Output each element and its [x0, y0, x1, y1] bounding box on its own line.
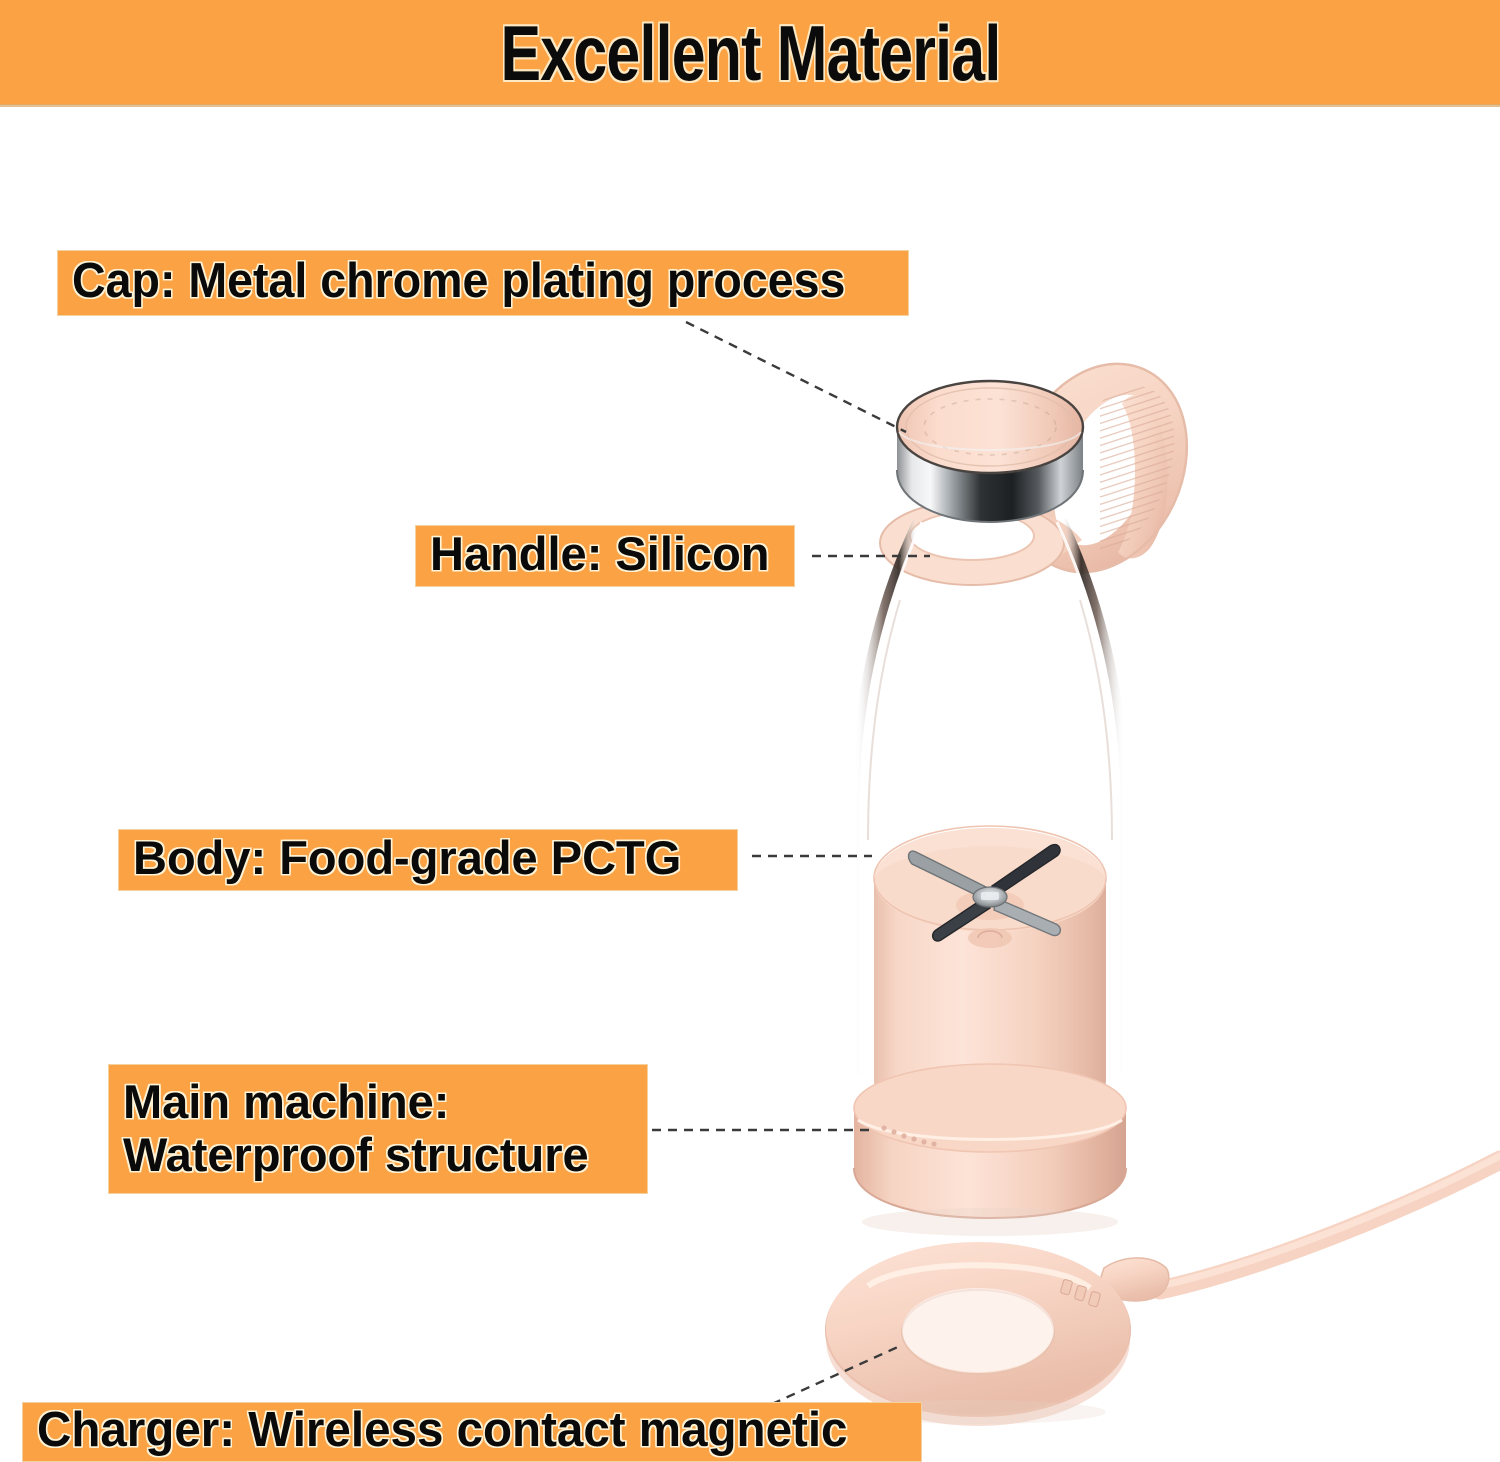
callout-label-main-machine-line2: Waterproof structure	[123, 1129, 633, 1182]
base-led-indicators	[881, 1125, 936, 1146]
product-illustration	[0, 0, 1500, 1462]
leader-line-cap	[686, 322, 906, 432]
leader-lines	[0, 0, 1500, 1462]
infographic-canvas: Excellent Material	[0, 0, 1500, 1462]
callout-label-cap-text: Cap: Metal chrome plating process	[72, 254, 853, 309]
callout-label-main-machine[interactable]: Main machine: Waterproof structure	[108, 1064, 648, 1194]
transparent-pctg-body	[855, 520, 1125, 1075]
callout-label-handle-text: Handle: Silicon	[430, 528, 780, 581]
callout-label-cap[interactable]: Cap: Metal chrome plating process	[57, 250, 909, 316]
magnetic-contact-pads	[1060, 1279, 1101, 1307]
handle-collar-ring	[880, 501, 1082, 585]
callout-label-body-text: Body: Food-grade PCTG	[133, 832, 723, 885]
callout-label-charger-text: Charger: Wireless contact magnetic	[37, 1403, 881, 1458]
callout-label-main-machine-line1: Main machine:	[123, 1076, 633, 1129]
motor-base	[854, 1064, 1126, 1236]
page-title: Excellent Material	[500, 14, 1000, 92]
wireless-charger	[826, 1156, 1500, 1426]
callout-label-charger[interactable]: Charger: Wireless contact magnetic	[22, 1402, 922, 1462]
header-banner: Excellent Material	[0, 0, 1500, 105]
header-divider	[0, 104, 1500, 107]
leader-line-charger	[772, 1346, 900, 1404]
callout-label-handle[interactable]: Handle: Silicon	[415, 525, 795, 587]
callout-label-body[interactable]: Body: Food-grade PCTG	[118, 829, 738, 891]
blade-jar-insert	[874, 826, 1106, 1124]
silicone-handle-loop	[981, 336, 1219, 600]
bottle-cap	[897, 381, 1083, 522]
stainless-blade-assembly	[909, 845, 1061, 941]
